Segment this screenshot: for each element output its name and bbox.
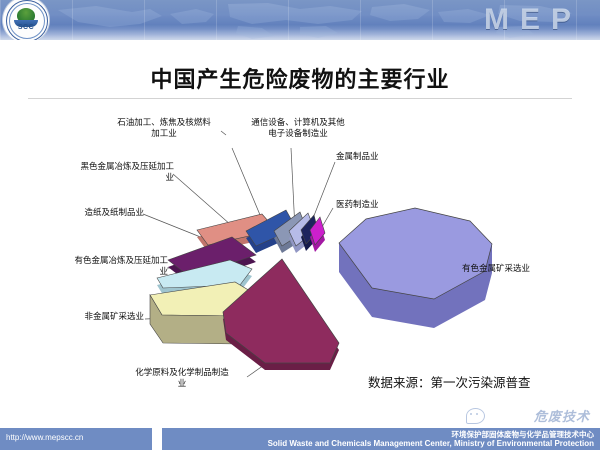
footer-bar: http://www.mepscc.cn 环境保护部固体废物与化学品管理技术中心… xyxy=(0,428,600,450)
logo-scc-text: SCC xyxy=(3,24,49,31)
pie-label-chemical: 化学原料及化学制品制造 业 xyxy=(112,368,252,390)
footer-divider xyxy=(152,428,162,450)
pie-label-petroleum: 石油加工、炼焦及核燃料 加工业 xyxy=(94,118,234,140)
pie-label-pharma: 医药制造业 xyxy=(336,200,456,211)
footer-org-en: Solid Waste and Chemicals Management Cen… xyxy=(268,439,594,448)
header-banner: SCC MEP xyxy=(0,0,600,40)
mep-scc-logo: SCC xyxy=(3,0,49,40)
pie-label-electronics: 通信设备、计算机及其他 电子设备制造业 xyxy=(228,118,368,140)
mep-brand-text: MEP xyxy=(484,2,582,38)
pie-chart-graphic xyxy=(0,104,600,404)
watermark-text: 危废技术 xyxy=(534,406,590,425)
title-divider xyxy=(28,98,572,99)
pie-label-nonferrous-smelt: 有色金属冶炼及压延加工 业 xyxy=(10,256,168,278)
pie-label-nonmetal-mining: 非金属矿采选业 xyxy=(20,312,144,323)
pie-label-nonferrous-mining: 有色金属矿采选业 xyxy=(462,264,592,275)
wechat-icon xyxy=(466,408,485,424)
pie-label-paper: 造纸及纸制品业 xyxy=(24,208,144,219)
page-title: 中国产生危险废物的主要行业 xyxy=(0,62,600,94)
pie-label-metal-products: 金属制品业 xyxy=(336,152,456,163)
data-source-note: 数据来源：第一次污染源普查 xyxy=(368,372,531,391)
watermark: 危废技术 xyxy=(464,404,592,428)
pie-chart: 石油加工、炼焦及核燃料 加工业 通信设备、计算机及其他 电子设备制造业 黑色金属… xyxy=(0,104,600,404)
slide-root: SCC MEP 中国产生危险废物的主要行业 xyxy=(0,0,600,450)
pie-label-ferrous-smelt: 黑色金属冶炼及压延加工 业 xyxy=(14,162,174,184)
footer-url[interactable]: http://www.mepscc.cn xyxy=(6,433,83,442)
